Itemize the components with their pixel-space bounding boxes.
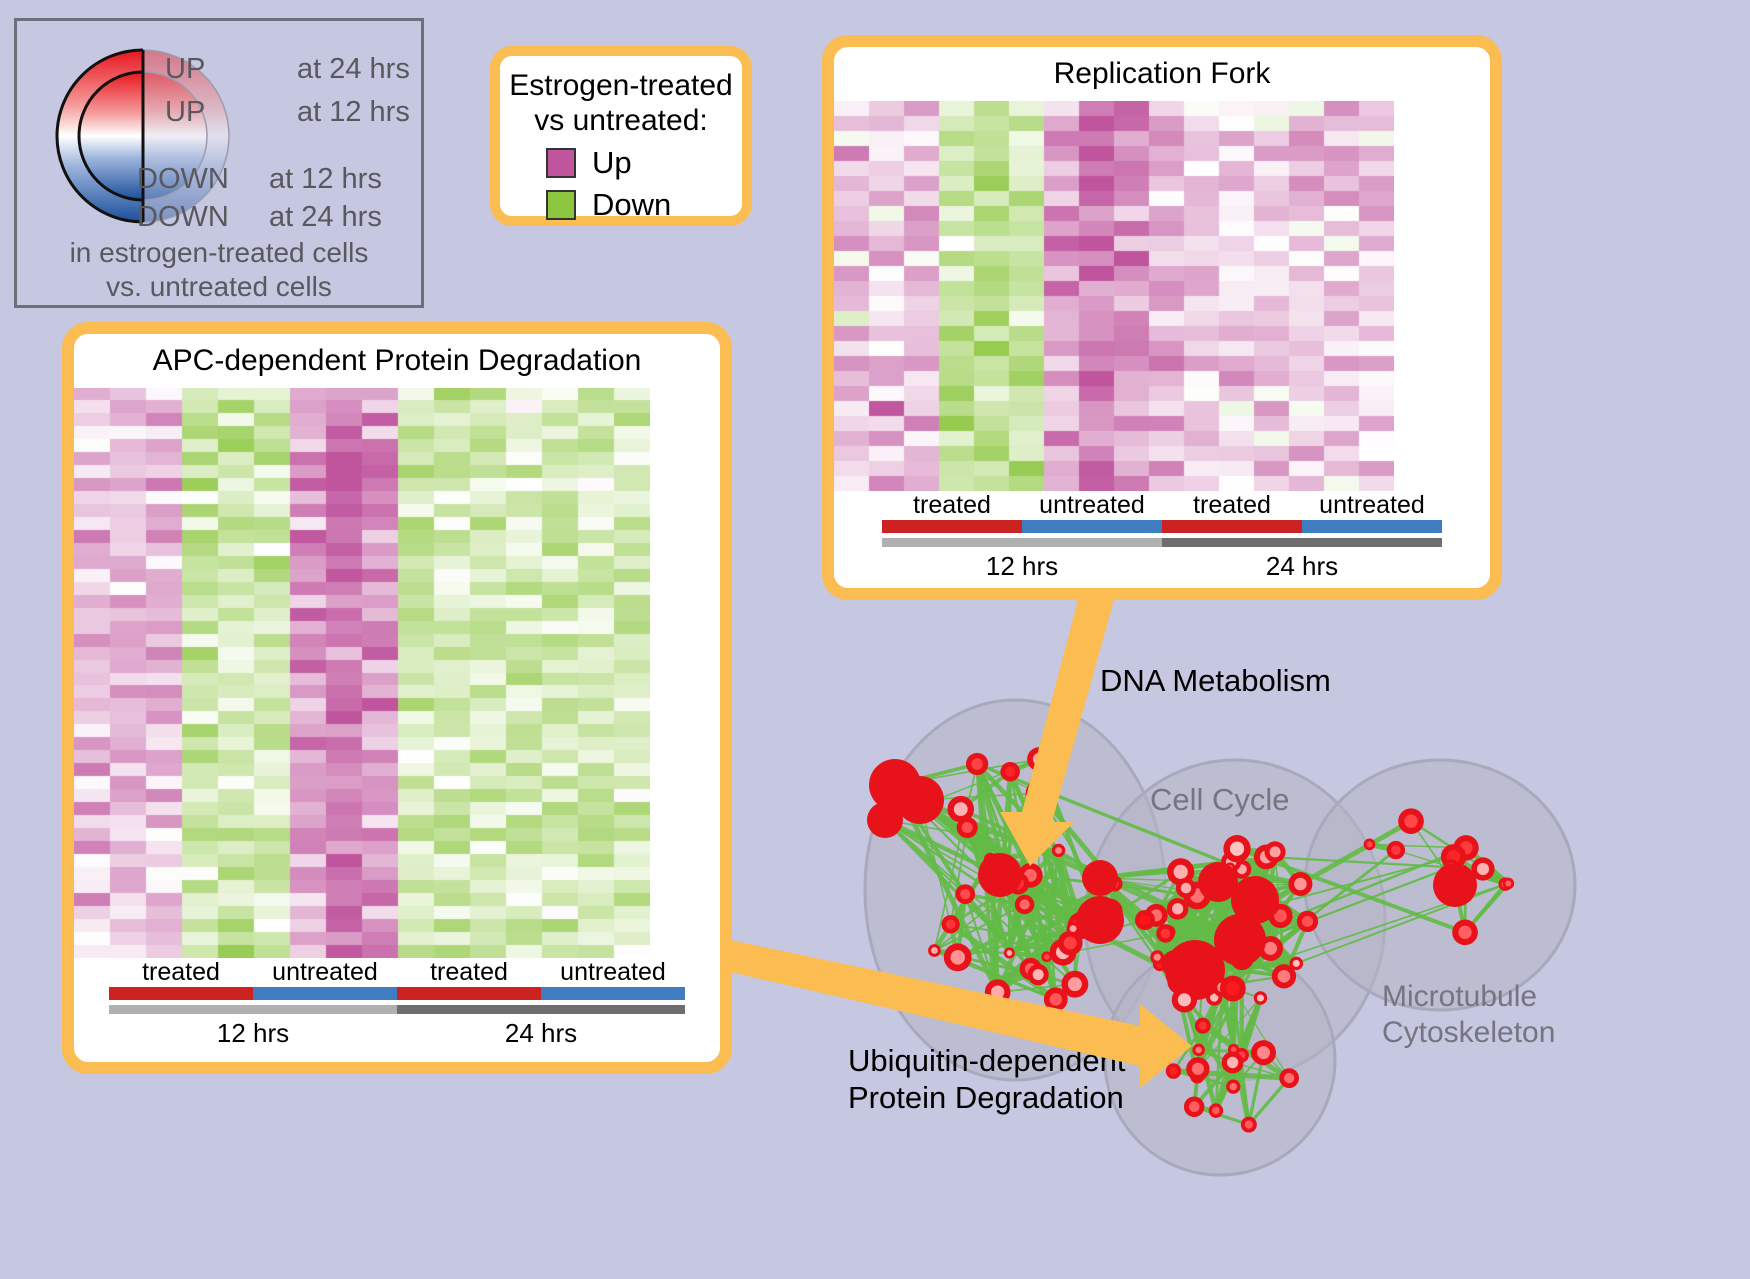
bar-treated-24: [1162, 520, 1302, 533]
bar-24hrs: [1162, 538, 1442, 547]
bar-treated-24-apc: [397, 987, 541, 1000]
network-node-core: [1270, 846, 1281, 857]
network-node-core: [1391, 845, 1401, 855]
network-node-core: [1140, 915, 1150, 925]
bar-12hrs-apc: [109, 1005, 397, 1014]
network-node-core: [1257, 994, 1264, 1001]
network-node-core: [1294, 878, 1307, 891]
network-node-core: [1284, 1073, 1294, 1083]
panel-title-apc: APC-dependent Protein Degradation: [74, 344, 720, 378]
group-color-bar-apc: [109, 987, 685, 1000]
network-node-core: [1264, 942, 1277, 955]
network-node-core: [1154, 954, 1161, 961]
legend-item-down: Down: [500, 187, 742, 223]
time-label-12hrs: 12 hrs: [882, 551, 1162, 582]
network-node-core: [1293, 960, 1300, 967]
panel-title-replication-fork: Replication Fork: [834, 57, 1490, 91]
time-color-bar-replication-fork: [882, 538, 1442, 547]
key-row-down-12: DOWNat 12 hrs: [137, 163, 382, 196]
network-node-core: [1181, 883, 1192, 894]
network-node-core: [1070, 925, 1077, 932]
group-label-treated-24-apc: treated: [397, 958, 541, 987]
network-node-core: [1257, 1046, 1270, 1059]
group-label-untreated-24: untreated: [1302, 491, 1442, 520]
group-label-untreated-12: untreated: [1022, 491, 1162, 520]
ub-line2: Protein Degradation: [848, 1079, 1126, 1116]
network-node-core: [1161, 929, 1171, 939]
network-node-core: [1005, 767, 1015, 777]
network-node-core: [1458, 926, 1471, 939]
network-node-core: [1227, 1057, 1238, 1068]
network-label-cell-cycle: Cell Cycle: [1150, 782, 1290, 818]
network-node-core: [1020, 899, 1030, 909]
axis-apc: treated untreated treated untreated 12 h…: [109, 958, 685, 1049]
network-node-core: [1192, 1063, 1204, 1075]
network-node-core: [946, 920, 956, 930]
network-label-dna-metabolism: DNA Metabolism: [1100, 663, 1331, 699]
bar-24hrs-apc: [397, 1005, 685, 1014]
network-node-core: [1033, 753, 1045, 765]
time-label-24hrs: 24 hrs: [1162, 551, 1442, 582]
network-node-core: [1178, 993, 1191, 1006]
key-label-down-12: DOWN: [137, 163, 269, 196]
network-node-core: [1006, 950, 1012, 956]
bar-12hrs: [882, 538, 1162, 547]
network-node-core: [1189, 1101, 1200, 1112]
network-node-core: [1230, 842, 1244, 856]
down-swatch-icon: [546, 190, 576, 220]
bar-untreated-12-apc: [253, 987, 397, 1000]
color-key-footer-line2: vs. untreated cells: [17, 270, 421, 304]
network-node-core: [1044, 954, 1050, 960]
panel-apc-protein-degradation: APC-dependent Protein Degradation treate…: [62, 322, 732, 1074]
network-node-core: [1230, 1083, 1237, 1090]
network-node-core: [950, 950, 964, 964]
network-node-core: [1172, 903, 1183, 914]
heatmap-replication-fork: [834, 101, 1490, 491]
key-label-down-24: DOWN: [137, 201, 269, 234]
group-label-untreated-24-apc: untreated: [541, 958, 685, 987]
network-node-core: [1064, 937, 1077, 950]
network-node-core: [1195, 1047, 1202, 1054]
network-node-core: [1050, 993, 1062, 1005]
bar-treated-12: [882, 520, 1022, 533]
legend-item-up: Up: [500, 145, 742, 181]
panel-replication-fork: Replication Fork treated untreated treat…: [822, 35, 1502, 600]
group-color-bar-replication-fork: [882, 520, 1442, 533]
network-label-microtubule-cytoskeleton: Microtubule Cytoskeleton: [1382, 979, 1555, 1051]
time-label-12hrs-apc: 12 hrs: [109, 1018, 397, 1049]
network-node-core: [1226, 982, 1239, 995]
legend-label-down: Down: [592, 187, 696, 223]
color-key-footer-line1: in estrogen-treated cells: [17, 236, 421, 270]
network-node-core: [1245, 1120, 1253, 1128]
color-key-footer: in estrogen-treated cells vs. untreated …: [17, 236, 421, 304]
key-row-up-24: UPat 24 hrs: [165, 53, 410, 86]
group-labels-replication-fork: treated untreated treated untreated: [882, 491, 1442, 520]
group-label-untreated-12-apc: untreated: [253, 958, 397, 987]
network-node[interactable]: [978, 853, 1022, 897]
bar-untreated-24-apc: [541, 987, 685, 1000]
network-node[interactable]: [867, 802, 903, 838]
group-labels-apc: treated untreated treated untreated: [109, 958, 685, 987]
key-row-down-24: DOWNat 24 hrs: [137, 201, 382, 234]
mt-line1: Microtubule: [1382, 979, 1555, 1015]
network-node[interactable]: [896, 776, 944, 824]
group-label-treated-12-apc: treated: [109, 958, 253, 987]
network-node-core: [991, 985, 1004, 998]
updown-title-line1: Estrogen-treated: [500, 68, 742, 103]
legend-label-up: Up: [592, 145, 696, 181]
network-node-core: [1505, 880, 1511, 886]
key-time-down-24: at 24 hrs: [269, 201, 382, 233]
network-node-core: [1231, 1047, 1237, 1053]
heatmap-apc: [74, 388, 720, 958]
network-node-core: [971, 758, 983, 770]
time-color-bar-apc: [109, 1005, 685, 1014]
network-node-core: [1404, 814, 1417, 827]
time-labels-apc: 12 hrs 24 hrs: [109, 1018, 685, 1049]
axis-replication-fork: treated untreated treated untreated 12 h…: [882, 491, 1442, 582]
group-label-treated-24: treated: [1162, 491, 1302, 520]
network-node[interactable]: [1433, 863, 1477, 907]
network-node-core: [1032, 786, 1046, 800]
ub-line1: Ubiquitin-dependent: [848, 1042, 1126, 1079]
network-node-core: [1278, 970, 1291, 983]
network-node-core: [960, 889, 970, 899]
network-node-core: [1068, 977, 1082, 991]
network-node-core: [954, 802, 968, 816]
key-label-up-24: UP: [165, 53, 297, 86]
group-label-treated-12: treated: [882, 491, 1022, 520]
network-label-ubiquitin-protein-degradation: Ubiquitin-dependent Protein Degradation: [848, 1042, 1126, 1116]
updown-legend-title: Estrogen-treated vs untreated:: [500, 56, 742, 139]
network-node-core: [1212, 1107, 1220, 1115]
network-node-core: [1477, 863, 1489, 875]
key-row-up-12: UPat 12 hrs: [165, 96, 410, 129]
network-node-core: [1199, 1022, 1207, 1030]
mt-line2: Cytoskeleton: [1382, 1015, 1555, 1051]
time-labels-replication-fork: 12 hrs 24 hrs: [882, 551, 1442, 582]
network-node[interactable]: [1076, 896, 1124, 944]
color-key-legend: UPat 24 hrs UPat 12 hrs DOWNat 12 hrs DO…: [14, 18, 424, 308]
bar-untreated-24: [1302, 520, 1442, 533]
network-node-core: [1174, 865, 1188, 879]
up-swatch-icon: [546, 148, 576, 178]
key-time-up-12: at 12 hrs: [297, 96, 410, 128]
pathway-network-diagram: [800, 620, 1750, 1279]
key-time-up-24: at 24 hrs: [297, 53, 410, 85]
network-node-core: [1169, 1067, 1177, 1075]
network-node-core: [931, 947, 938, 954]
bar-untreated-12: [1022, 520, 1162, 533]
updown-legend: Estrogen-treated vs untreated: Up Down: [490, 46, 752, 226]
network-node-core: [962, 822, 973, 833]
network-node-core: [1055, 847, 1062, 854]
network-node-core: [1033, 969, 1044, 980]
network-node-core: [1302, 916, 1313, 927]
updown-title-line2: vs untreated:: [500, 103, 742, 138]
time-label-24hrs-apc: 24 hrs: [397, 1018, 685, 1049]
bar-treated-12-apc: [109, 987, 253, 1000]
key-time-down-12: at 12 hrs: [269, 163, 382, 195]
network-node[interactable]: [1082, 860, 1118, 896]
key-label-up-12: UP: [165, 96, 297, 129]
network-node-core: [1366, 841, 1372, 847]
